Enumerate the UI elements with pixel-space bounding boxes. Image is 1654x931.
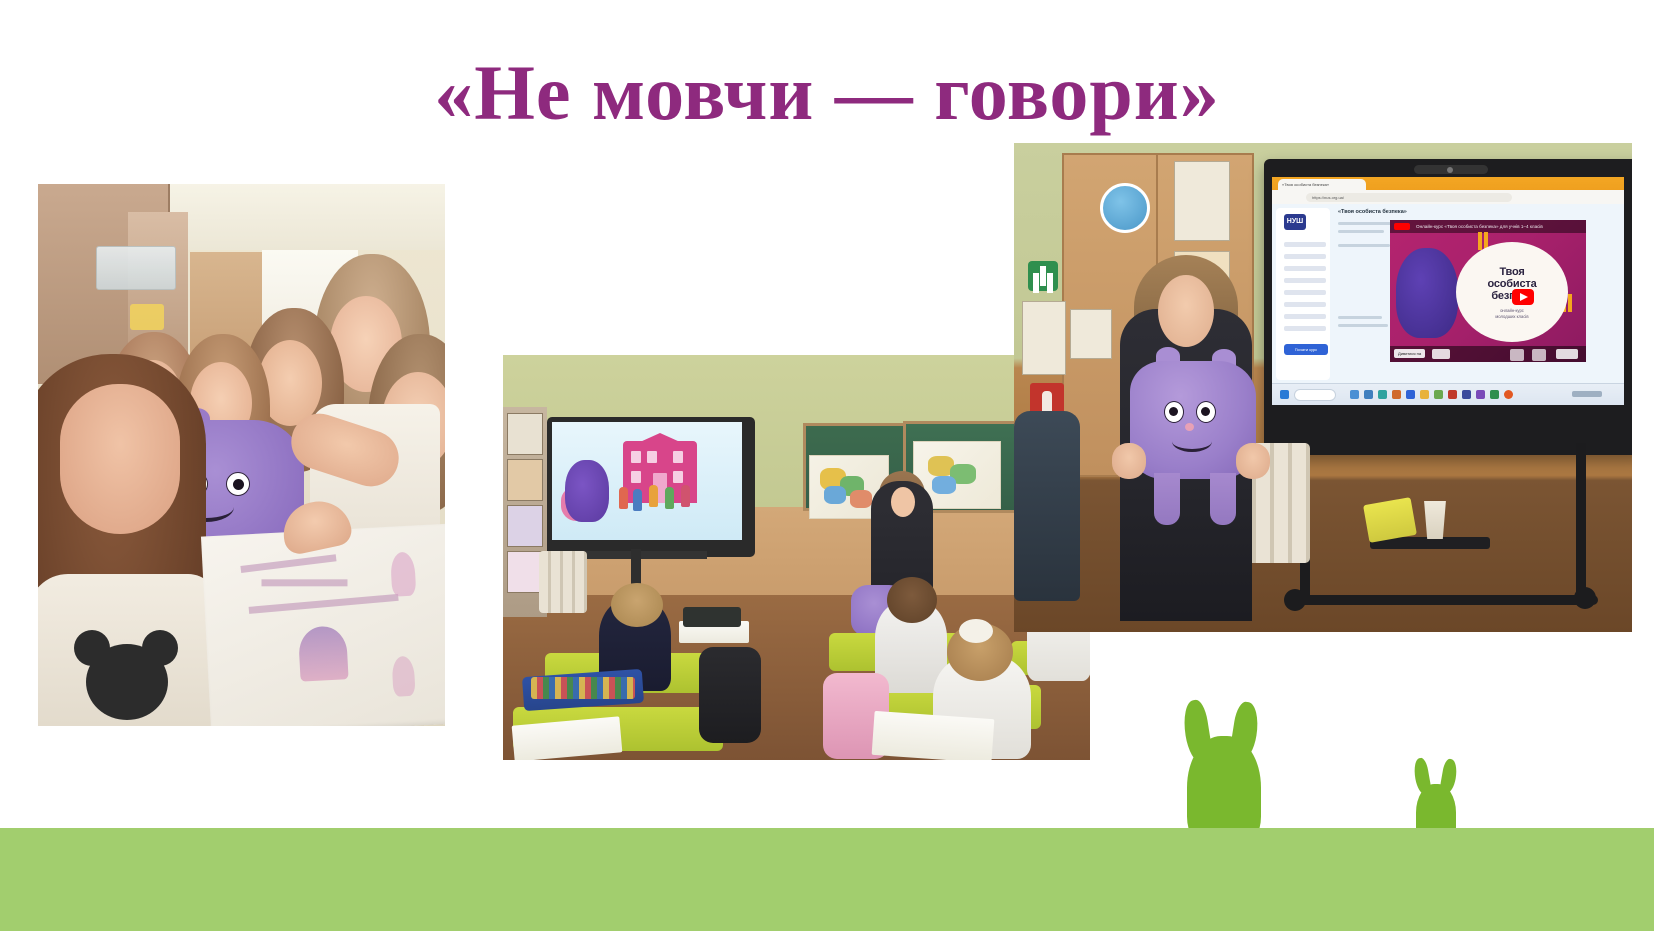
- sidebar-item-6[interactable]: [1284, 302, 1326, 307]
- wall-info-poster-2: [1070, 309, 1112, 359]
- pupil-girl-1-head: [887, 577, 937, 623]
- first-aid-icon: [1028, 261, 1058, 291]
- shelf-boxes: [96, 246, 176, 290]
- taskbar-icon-12[interactable]: [1504, 390, 1513, 399]
- photo-teacher-scene: «Твоя особиста безпека» https://nus.org.…: [1014, 143, 1632, 632]
- embedded-video[interactable]: Онлайн-курс «Твоя особиста безпека» для …: [1390, 220, 1586, 362]
- subscribe-button[interactable]: [1556, 349, 1578, 359]
- bottom-green-band: [0, 828, 1654, 931]
- plush-leg-right: [1210, 473, 1236, 525]
- speech-bubble: Твоя особиста безпека онлайн-курс молодш…: [1456, 242, 1568, 342]
- pupil-boy-head: [611, 583, 663, 627]
- mickey-ear-right: [142, 630, 178, 666]
- video-heading-line-1: Твоя: [1456, 266, 1568, 278]
- page-text-line: [1338, 244, 1390, 247]
- mickey-mouse-print: [86, 644, 168, 720]
- page-heading: «Твоя особиста безпека»: [1338, 209, 1407, 215]
- panel-leg-right: [1576, 443, 1586, 601]
- teacher-hand-right: [1236, 443, 1270, 479]
- start-course-button[interactable]: Почати курс: [1284, 344, 1328, 355]
- taskbar-icon-11[interactable]: [1490, 390, 1499, 399]
- taskbar-icon-1[interactable]: [1350, 390, 1359, 399]
- screen-kid-4: [665, 487, 674, 509]
- sidebar-item-5[interactable]: [1284, 290, 1326, 295]
- site-logo[interactable]: НУШ: [1284, 214, 1306, 230]
- browser-window[interactable]: «Твоя особиста безпека» https://nus.org.…: [1272, 177, 1624, 405]
- youtube-logo-icon: [1432, 349, 1450, 359]
- video-subtitle-line-2: молодших класів: [1456, 314, 1568, 320]
- drawing-bunny: [390, 552, 416, 597]
- sidebar-item-1[interactable]: [1284, 242, 1326, 247]
- sidebar-item-8[interactable]: [1284, 326, 1326, 331]
- taskbar-icon-3[interactable]: [1378, 390, 1387, 399]
- video-footer-bar: Дивитися на: [1390, 346, 1586, 362]
- backpack-black: [699, 647, 761, 743]
- pencils: [531, 677, 635, 699]
- wall-poster-2: [507, 459, 543, 501]
- open-notebook: [872, 711, 995, 760]
- page-text-line: [1338, 230, 1384, 233]
- sidebar-item-2[interactable]: [1284, 254, 1326, 259]
- video-heading-line-2: особиста: [1456, 278, 1568, 290]
- childrens-drawing: [201, 524, 445, 726]
- screen-school-window: [673, 471, 683, 483]
- plush-nose: [1185, 423, 1194, 431]
- taskbar-icon-4[interactable]: [1392, 390, 1401, 399]
- screen-kid-3: [649, 485, 658, 507]
- browser-tab-bar: «Твоя особиста безпека»: [1272, 177, 1624, 190]
- screen-monster-character: [565, 460, 609, 522]
- page-text-line: [1338, 324, 1388, 327]
- photo-classroom-scene: [503, 355, 1090, 760]
- cabinet-poster-1: [1174, 161, 1230, 241]
- map-region: [850, 490, 872, 508]
- screen-school-window: [631, 471, 641, 483]
- plush-leg-left: [1154, 473, 1180, 525]
- sidebar-item-4[interactable]: [1284, 278, 1326, 283]
- taskbar-icon-2[interactable]: [1364, 390, 1373, 399]
- whiteboard-base: [577, 551, 707, 559]
- taskbar-search-input[interactable]: [1294, 389, 1336, 401]
- screen-kid-2: [633, 489, 642, 511]
- office-chair: [1014, 411, 1080, 601]
- wall-poster-4: [507, 551, 543, 593]
- taskbar-icon-8[interactable]: [1448, 390, 1457, 399]
- wall-info-poster: [1022, 301, 1066, 375]
- paper-rolls: [539, 551, 587, 613]
- drawing-scribble-2: [261, 579, 347, 586]
- taskbar-icon-10[interactable]: [1476, 390, 1485, 399]
- black-case: [683, 607, 741, 627]
- page-text-line: [1338, 316, 1382, 319]
- mickey-ear-left: [74, 630, 110, 666]
- partner-logo-2: [1532, 349, 1546, 361]
- slide-canvas: «Не мовчи — говори»: [0, 0, 1654, 931]
- screen-school-window: [673, 451, 683, 463]
- screen-school-window: [647, 451, 657, 463]
- youtube-badge-icon: [1394, 223, 1410, 230]
- teacher-face: [891, 487, 915, 517]
- wall-poster-1: [507, 413, 543, 455]
- wall-poster-3: [507, 505, 543, 547]
- system-tray[interactable]: [1572, 391, 1602, 397]
- cabinet-sticker-icon: [1100, 183, 1150, 233]
- url-input[interactable]: https://nus.org.ua/: [1306, 193, 1512, 202]
- panel-wheel-right: [1574, 587, 1596, 609]
- photo-teacher-with-plush: «Твоя особиста безпека» https://nus.org.…: [1014, 143, 1632, 632]
- screen-school-window: [631, 451, 641, 463]
- hair-bow: [959, 619, 993, 643]
- watch-on-youtube-button[interactable]: Дивитися на: [1394, 349, 1425, 358]
- bunny-silhouette-large: [1177, 700, 1269, 848]
- drawing-scribble-3: [249, 594, 399, 614]
- drawing-scribble-1: [240, 554, 336, 573]
- panel-camera-icon: [1414, 165, 1488, 174]
- windows-taskbar: [1272, 383, 1624, 405]
- yellow-poster: [130, 304, 164, 330]
- taskbar-icon-5[interactable]: [1406, 390, 1415, 399]
- video-title-bar: Онлайн-курс «Твоя особиста безпека» для …: [1390, 220, 1586, 233]
- taskbar-icon-7[interactable]: [1434, 390, 1443, 399]
- taskbar-icon-9[interactable]: [1462, 390, 1471, 399]
- screen-kid-1: [619, 487, 628, 509]
- screen-kid-5: [681, 485, 690, 507]
- photo-classroom-lesson: [503, 355, 1090, 760]
- drawing-bunny-2: [391, 656, 415, 697]
- taskbar-icon-6[interactable]: [1420, 390, 1429, 399]
- sidebar-item-3[interactable]: [1284, 266, 1326, 271]
- partner-logo-1: [1510, 349, 1524, 361]
- page-title: «Не мовчи — говори»: [0, 52, 1654, 134]
- play-button-icon[interactable]: [1512, 289, 1534, 305]
- panel-wheel-left: [1284, 589, 1306, 611]
- browser-tab[interactable]: «Твоя особиста безпека»: [1278, 179, 1366, 190]
- photo-selfie-scene: [38, 184, 445, 726]
- web-page-content: НУШ Почати курс «Твоя особиста безпека»: [1272, 204, 1624, 384]
- video-monster-character: [1396, 248, 1458, 338]
- start-button-icon[interactable]: [1280, 390, 1289, 399]
- plush-smile: [1172, 431, 1212, 452]
- map-region: [824, 486, 846, 504]
- map-region: [932, 476, 956, 494]
- video-subtitle: онлайн-курс молодших класів: [1456, 308, 1568, 320]
- panel-base-bar: [1290, 595, 1598, 605]
- browser-url-bar[interactable]: https://nus.org.ua/: [1272, 190, 1624, 205]
- photo-selfie-with-children: [38, 184, 445, 726]
- ceiling: [168, 184, 445, 250]
- teacher-face: [1158, 275, 1214, 347]
- page-text-line: [1338, 222, 1398, 225]
- drawing-figure: [298, 625, 349, 681]
- teacher-face: [60, 384, 180, 534]
- site-sidebar: НУШ Почати курс: [1276, 208, 1330, 380]
- sidebar-item-7[interactable]: [1284, 314, 1326, 319]
- plush-eye-left: [1164, 401, 1184, 423]
- plush-eye-right: [1196, 401, 1216, 423]
- teacher-hand-left: [1112, 443, 1146, 479]
